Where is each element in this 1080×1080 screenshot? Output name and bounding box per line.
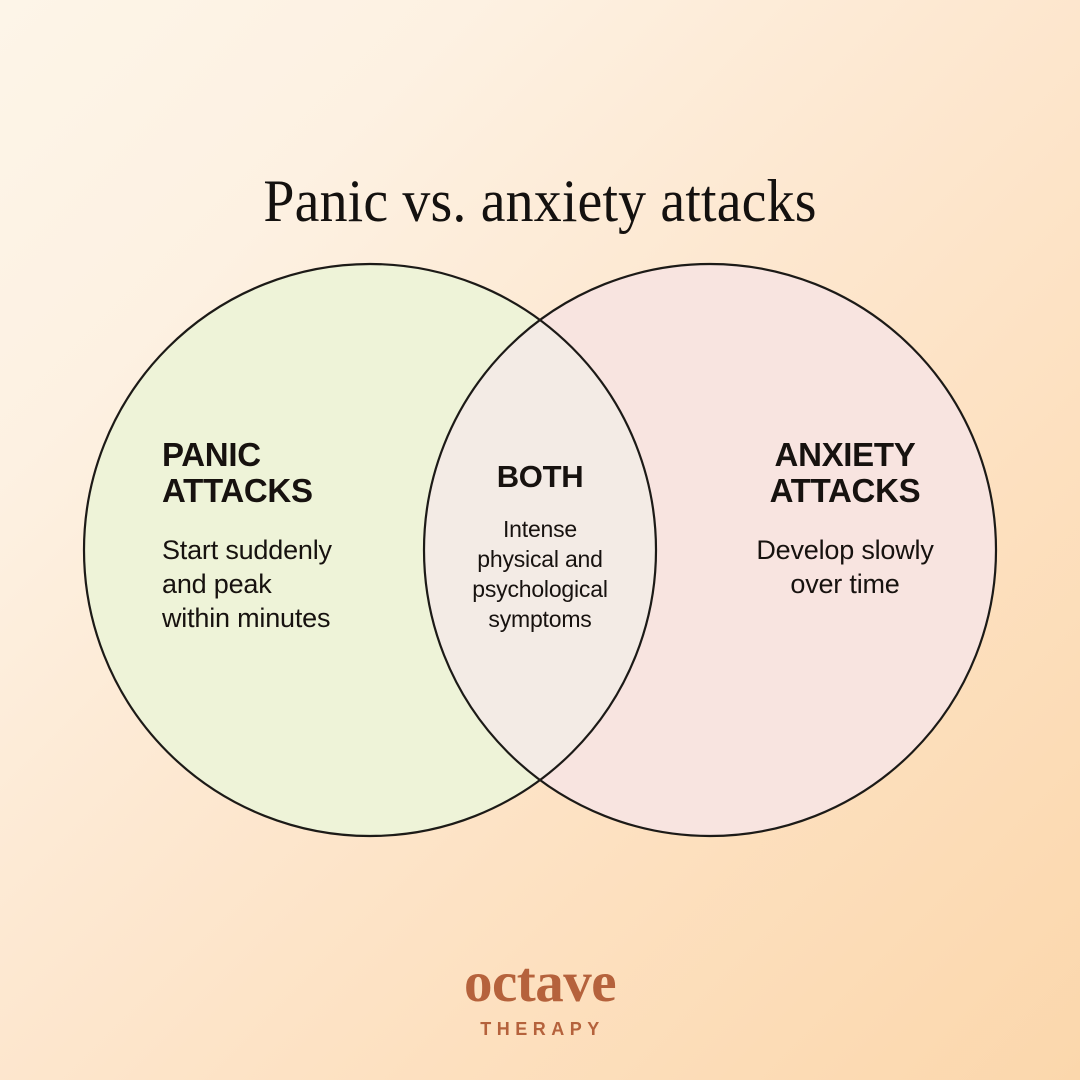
venn-center-body-line-4: symptoms — [443, 605, 637, 635]
venn-center-body-line-2: physical and — [443, 545, 637, 575]
venn-left-body-line-3: within minutes — [162, 602, 412, 636]
venn-left-heading: PANIC ATTACKS — [162, 437, 412, 508]
venn-center-body-line-3: psychological — [443, 575, 637, 605]
venn-diagram: PANIC ATTACKS Start suddenly and peak wi… — [0, 0, 1080, 1080]
venn-center-body: Intense physical and psychological sympt… — [443, 515, 637, 635]
venn-center-heading-line-1: BOTH — [443, 460, 637, 493]
logo-tagline: THERAPY — [0, 1020, 1080, 1038]
infographic-canvas: Panic vs. anxiety attacks PANIC ATTACKS … — [0, 0, 1080, 1080]
venn-right-heading: ANXIETY ATTACKS — [700, 437, 990, 508]
brand-logo: octave THERAPY — [0, 954, 1080, 1038]
venn-label-left: PANIC ATTACKS Start suddenly and peak wi… — [162, 437, 412, 636]
venn-center-heading: BOTH — [443, 460, 637, 493]
logo-wordmark: octave — [0, 954, 1080, 1011]
venn-left-heading-line-2: ATTACKS — [162, 473, 412, 509]
venn-left-body-line-1: Start suddenly — [162, 534, 412, 568]
venn-left-body: Start suddenly and peak within minutes — [162, 534, 412, 635]
venn-label-right: ANXIETY ATTACKS Develop slowly over time — [700, 437, 990, 602]
venn-label-center: BOTH Intense physical and psychological … — [443, 460, 637, 635]
venn-left-body-line-2: and peak — [162, 568, 412, 602]
venn-right-body-line-1: Develop slowly — [700, 534, 990, 568]
venn-right-heading-line-1: ANXIETY — [700, 437, 990, 473]
venn-right-body: Develop slowly over time — [700, 534, 990, 602]
venn-right-body-line-2: over time — [700, 568, 990, 602]
venn-left-heading-line-1: PANIC — [162, 437, 412, 473]
venn-right-heading-line-2: ATTACKS — [700, 473, 990, 509]
venn-center-body-line-1: Intense — [443, 515, 637, 545]
